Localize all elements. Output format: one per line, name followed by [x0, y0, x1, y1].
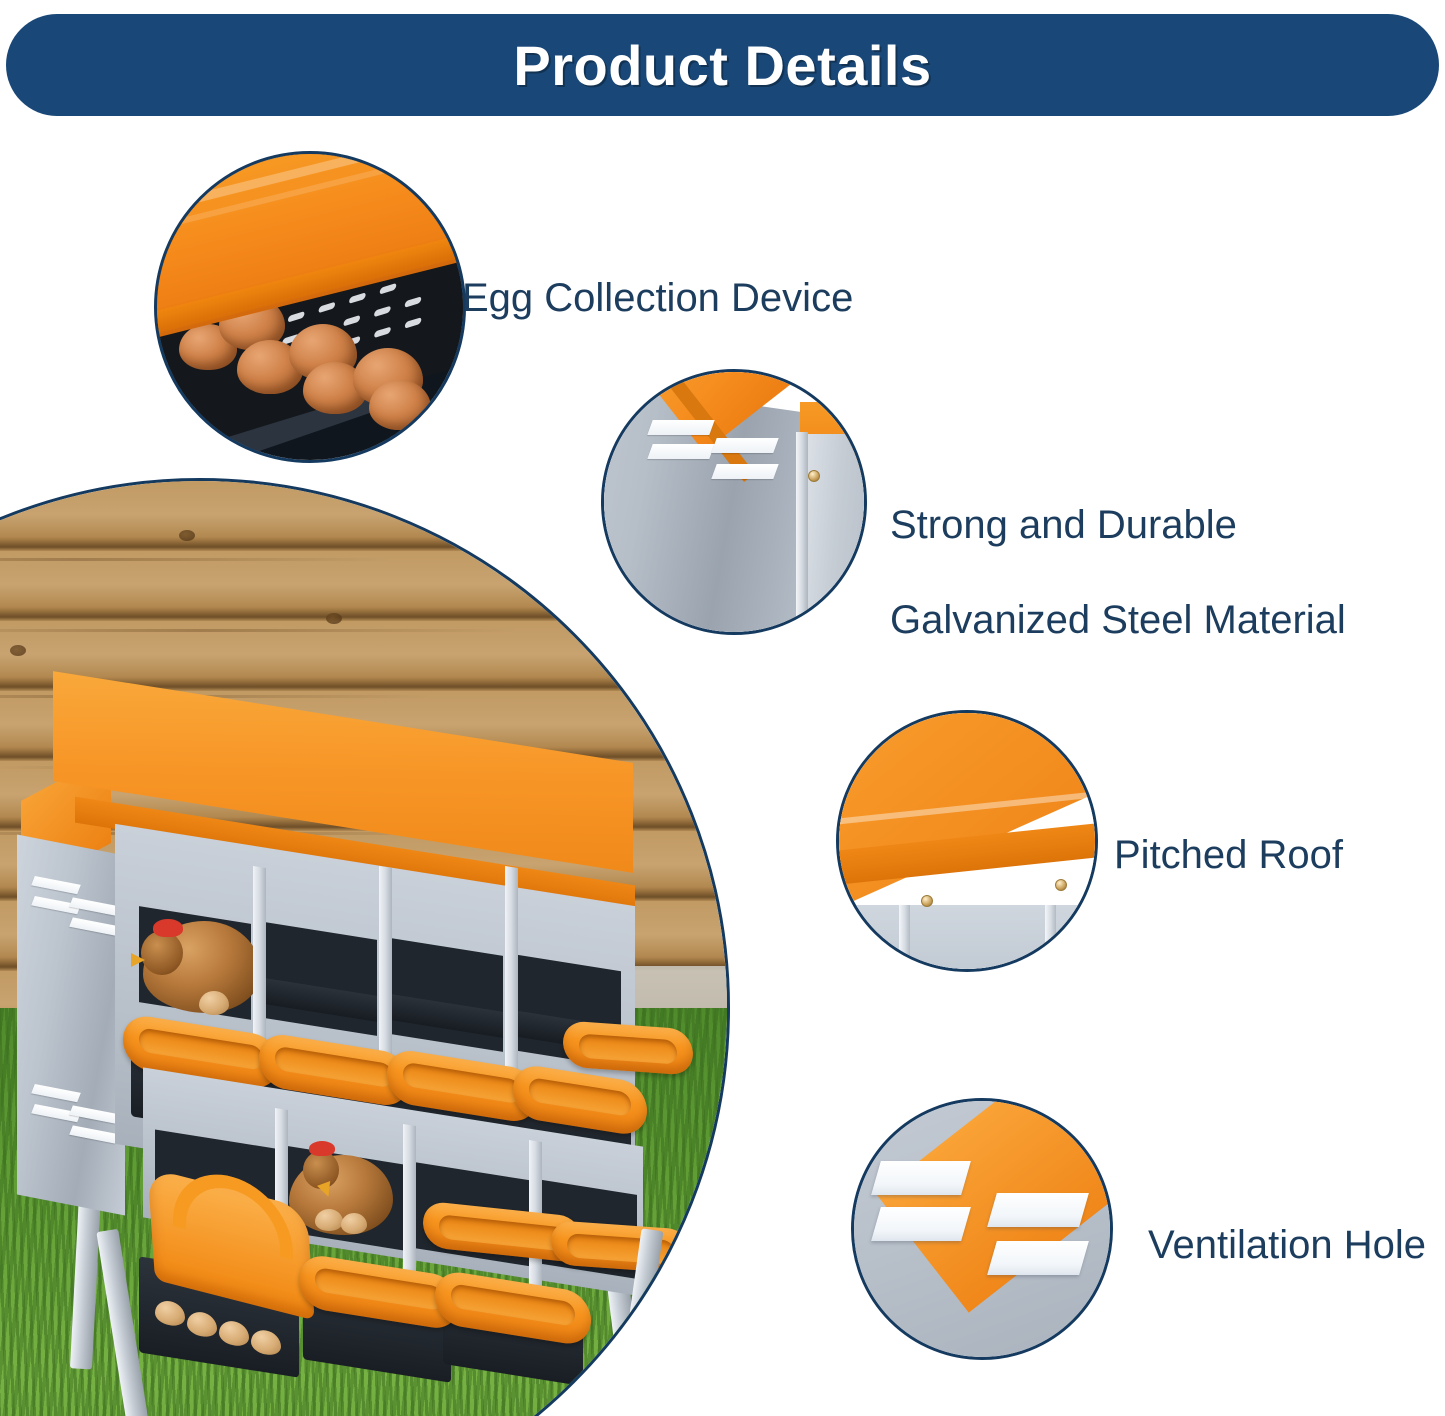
ventilation-slot [31, 876, 81, 894]
callout-ventilation-hole-label: Ventilation Hole [1148, 1222, 1426, 1269]
ventilation-slot [711, 438, 778, 453]
hen-upper-beak [131, 953, 145, 967]
infographic-page: Product Details [0, 0, 1445, 1416]
ventilation-slot [987, 1193, 1089, 1227]
ventilation-slot [871, 1207, 971, 1241]
ventilation-slot [69, 917, 119, 935]
callout-galvanized-steel-label: Strong and Durable Galvanized Steel Mate… [890, 455, 1346, 691]
nest-egg [315, 1209, 343, 1231]
collected-egg [369, 380, 431, 430]
ventilation-slot [871, 1161, 971, 1195]
screw-icon [808, 470, 820, 482]
hen-upper-comb [153, 919, 183, 937]
hen-lower-comb [309, 1141, 335, 1156]
callout-label-line-1: Strong and Durable [890, 502, 1346, 549]
nesting-box-product [3, 669, 723, 1416]
hen-upper-head [141, 931, 183, 975]
corner-post [899, 905, 910, 972]
page-title: Product Details [513, 33, 931, 98]
callout-pitched-roof-image [836, 710, 1098, 972]
callout-label-line-2: Galvanized Steel Material [890, 597, 1346, 644]
callout-egg-collection-label: Egg Collection Device [462, 275, 853, 322]
ventilation-slot [31, 1084, 81, 1102]
nest-egg [199, 991, 229, 1015]
screw-icon [1055, 879, 1067, 891]
callout-pitched-roof-label: Pitched Roof [1114, 832, 1343, 879]
ventilation-slot [647, 444, 714, 459]
corner-post [1045, 905, 1056, 972]
page-title-banner: Product Details [6, 14, 1439, 116]
corner-post [796, 432, 808, 635]
callout-egg-collection-image [154, 151, 466, 463]
roll-away-cover-open [562, 1020, 694, 1075]
ventilation-slot [987, 1241, 1089, 1275]
callout-galvanized-steel-image [601, 369, 867, 635]
callout-ventilation-hole-image [851, 1098, 1113, 1360]
steel-wall-below-roof [836, 905, 1098, 972]
ventilation-slot [647, 420, 714, 435]
screw-icon [921, 895, 933, 907]
galvanized-panel-right [800, 434, 867, 635]
compartment-divider [403, 1124, 416, 1276]
left-side-steel-panel [17, 835, 125, 1216]
ventilation-slot [69, 1125, 119, 1143]
ventilation-slot [711, 464, 778, 479]
nest-egg [341, 1213, 367, 1234]
